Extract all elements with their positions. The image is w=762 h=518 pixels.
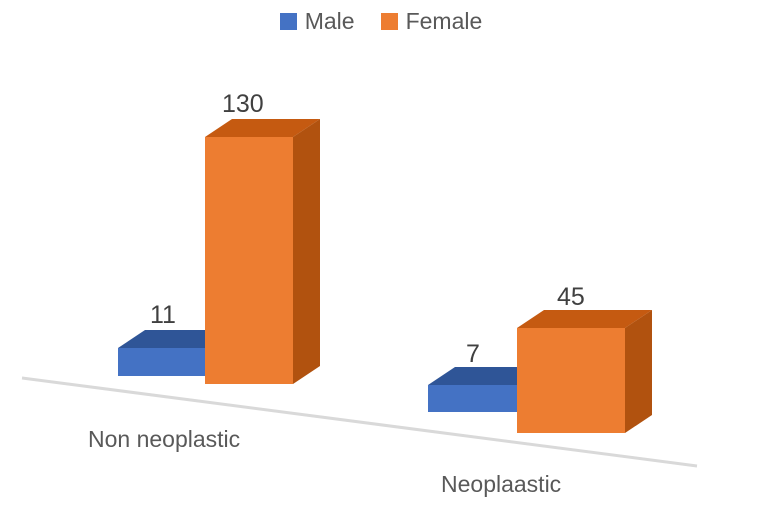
bar-female-non-neoplastic[interactable]: [205, 119, 320, 384]
data-label-male-neoplastic: 7: [466, 342, 480, 367]
bar-face-side: [625, 310, 652, 433]
data-label-male-non-neoplastic: 11: [150, 303, 176, 328]
category-label-non-neoplastic: Non neoplastic: [88, 428, 240, 451]
bar-female-neoplastic[interactable]: [517, 310, 652, 433]
bar-face-front: [428, 385, 517, 412]
bar-face-front: [205, 137, 293, 384]
chart-3d-clustered-column: Male Female: [0, 0, 762, 518]
bar-face-front: [118, 348, 205, 376]
bar-face-front: [517, 328, 625, 433]
category-label-neoplastic: Neoplaastic: [441, 473, 561, 496]
bar-face-side: [293, 119, 320, 384]
data-label-female-non-neoplastic: 130: [222, 92, 264, 117]
data-label-female-neoplastic: 45: [557, 285, 585, 310]
